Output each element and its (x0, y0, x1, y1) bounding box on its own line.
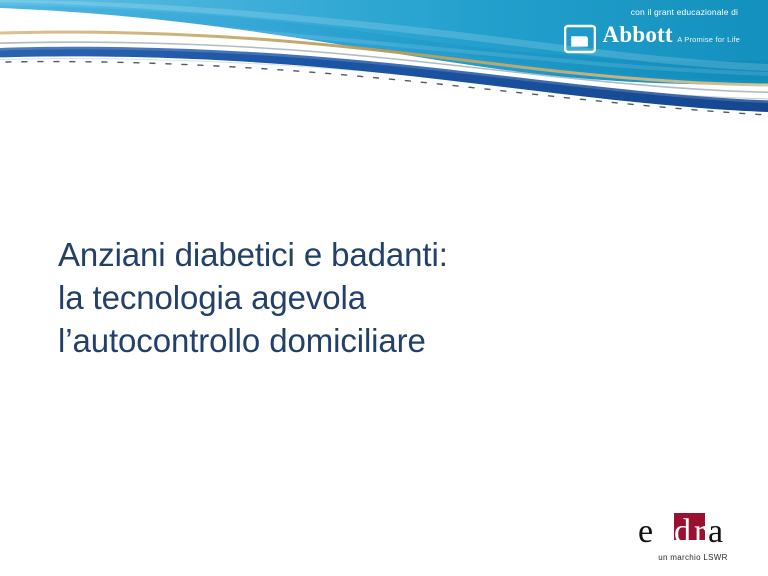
edra-publisher-logo: e d r a un marchio LSWR (634, 512, 752, 566)
title-line-1: Anziani diabetici e badanti: (58, 233, 678, 276)
sponsor-block: con il grant educazionale di Abbott A Pr… (560, 6, 740, 54)
edra-wordmark-icon: e d r a (634, 512, 752, 552)
abbott-tagline-text: A Promise for Life (677, 35, 740, 44)
presentation-slide: con il grant educazionale di Abbott A Pr… (0, 0, 768, 576)
grant-credit-text: con il grant educazionale di (560, 6, 740, 18)
abbott-logo: Abbott A Promise for Life (560, 23, 740, 54)
svg-text:e: e (638, 513, 653, 550)
title-line-3: l’autocontrollo domiciliare (58, 319, 678, 362)
svg-text:a: a (708, 513, 723, 550)
svg-text:r: r (694, 513, 706, 550)
abbott-wordmark: Abbott A Promise for Life (603, 23, 740, 47)
abbott-name-text: Abbott (603, 22, 673, 47)
slide-title: Anziani diabetici e badanti: la tecnolog… (58, 233, 678, 362)
svg-text:d: d (674, 513, 691, 550)
edra-subtitle-text: un marchio LSWR (634, 553, 752, 563)
abbott-a-symbol-icon (564, 24, 596, 54)
title-line-2: la tecnologia agevola (58, 276, 678, 319)
